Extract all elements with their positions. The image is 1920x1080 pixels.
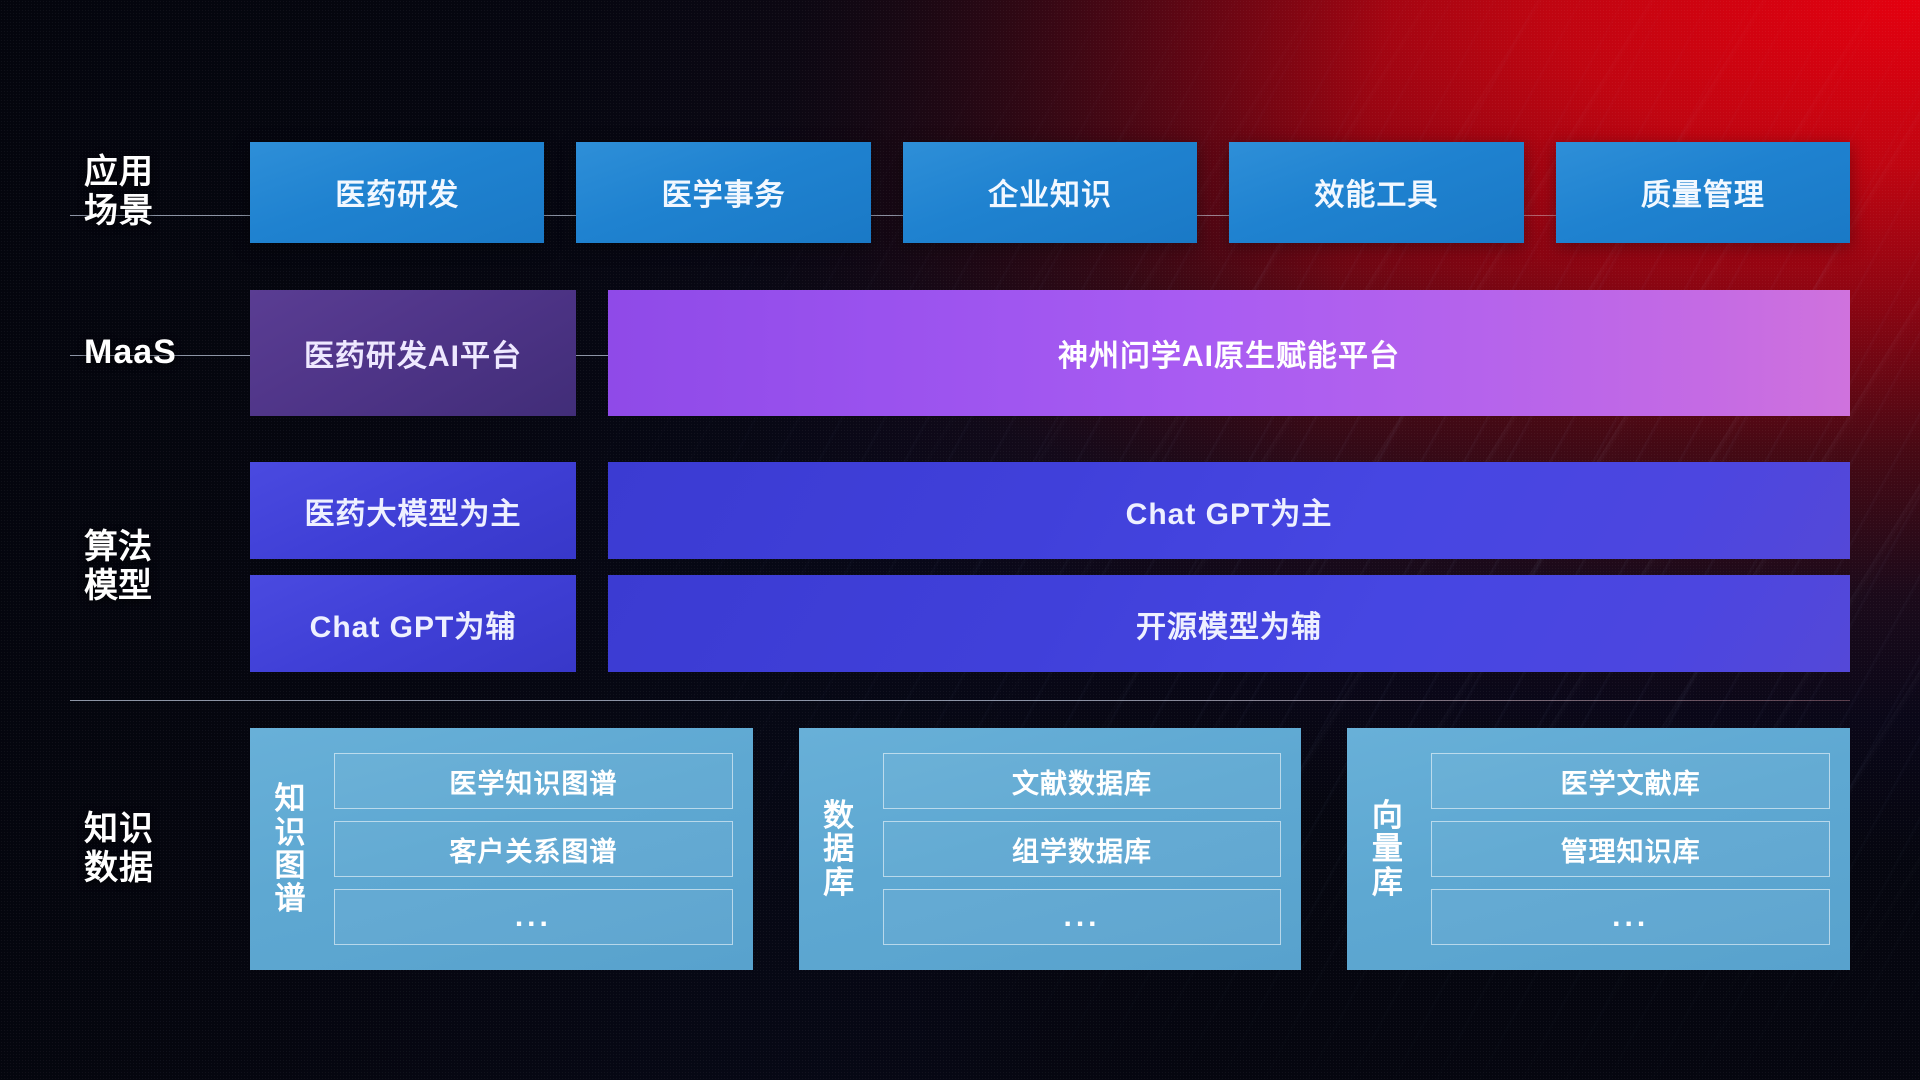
knowledge-item-more-database[interactable]: ...	[883, 889, 1282, 945]
knowledge-item-medical-literature-store[interactable]: 医学文献库	[1431, 753, 1830, 809]
app-box-medicine-rnd[interactable]: 医药研发	[250, 142, 544, 243]
knowledge-cards: 知 识 图 谱 医学知识图谱 客户关系图谱 ... 数 据 库 文献数据库 组学…	[250, 728, 1850, 970]
knowledge-card-items-knowledge-graph: 医学知识图谱 客户关系图谱 ...	[320, 742, 737, 956]
knowledge-card-vector-store[interactable]: 向 量 库 医学文献库 管理知识库 ...	[1347, 728, 1850, 970]
algo-box-chatgpt-primary[interactable]: Chat GPT为主	[608, 462, 1850, 559]
divider-line-3	[70, 700, 1850, 701]
tier-algorithm-models: 算法 模型 医药大模型为主 Chat GPT为主 Chat GPT为辅 开源模型…	[70, 462, 1850, 672]
algorithm-model-row-secondary: Chat GPT为辅 开源模型为辅	[250, 575, 1850, 672]
tier-label-algorithm-models: 算法 模型	[70, 528, 250, 607]
knowledge-card-items-vector-store: 医学文献库 管理知识库 ...	[1417, 742, 1834, 956]
architecture-diagram: 应用 场景 医药研发 医学事务 企业知识 效能工具 质量管理 MaaS 医药研发…	[0, 0, 1920, 1080]
maas-boxes: 医药研发AI平台 神州问学AI原生赋能平台	[250, 290, 1850, 416]
algo-box-pharma-large-model-primary[interactable]: 医药大模型为主	[250, 462, 576, 559]
knowledge-item-more-vector-store[interactable]: ...	[1431, 889, 1830, 945]
algorithm-model-boxes: 医药大模型为主 Chat GPT为主 Chat GPT为辅 开源模型为辅	[250, 462, 1850, 672]
knowledge-item-more-knowledge-graph[interactable]: ...	[334, 889, 733, 945]
tier-application-scenarios: 应用 场景 医药研发 医学事务 企业知识 效能工具 质量管理	[70, 132, 1850, 252]
knowledge-item-customer-relation-graph[interactable]: 客户关系图谱	[334, 821, 733, 877]
knowledge-item-literature-database[interactable]: 文献数据库	[883, 753, 1282, 809]
knowledge-card-title-knowledge-graph: 知 识 图 谱	[260, 742, 320, 956]
app-box-enterprise-knowledge[interactable]: 企业知识	[903, 142, 1197, 243]
algo-box-opensource-secondary[interactable]: 开源模型为辅	[608, 575, 1850, 672]
knowledge-card-knowledge-graph[interactable]: 知 识 图 谱 医学知识图谱 客户关系图谱 ...	[250, 728, 753, 970]
knowledge-item-management-knowledge-store[interactable]: 管理知识库	[1431, 821, 1830, 877]
tier-maas: MaaS 医药研发AI平台 神州问学AI原生赋能平台	[70, 290, 1850, 416]
tier-label-knowledge-data: 知识 数据	[70, 810, 250, 889]
algo-box-chatgpt-secondary[interactable]: Chat GPT为辅	[250, 575, 576, 672]
knowledge-item-omics-database[interactable]: 组学数据库	[883, 821, 1282, 877]
app-box-efficiency-tools[interactable]: 效能工具	[1229, 142, 1523, 243]
tier-label-application-scenarios: 应用 场景	[70, 153, 250, 232]
tier-knowledge-data: 知识 数据 知 识 图 谱 医学知识图谱 客户关系图谱 ... 数 据 库	[70, 728, 1850, 970]
maas-box-shenzhou-wenxue-platform[interactable]: 神州问学AI原生赋能平台	[608, 290, 1850, 416]
knowledge-card-title-database: 数 据 库	[809, 742, 869, 956]
app-box-quality-management[interactable]: 质量管理	[1556, 142, 1850, 243]
knowledge-card-database[interactable]: 数 据 库 文献数据库 组学数据库 ...	[799, 728, 1302, 970]
knowledge-card-items-database: 文献数据库 组学数据库 ...	[869, 742, 1286, 956]
knowledge-card-title-vector-store: 向 量 库	[1357, 742, 1417, 956]
app-box-medical-affairs[interactable]: 医学事务	[576, 142, 870, 243]
maas-box-pharma-ai-platform[interactable]: 医药研发AI平台	[250, 290, 576, 416]
knowledge-item-medical-knowledge-graph[interactable]: 医学知识图谱	[334, 753, 733, 809]
algorithm-model-row-primary: 医药大模型为主 Chat GPT为主	[250, 462, 1850, 559]
slide-canvas: 应用 场景 医药研发 医学事务 企业知识 效能工具 质量管理 MaaS 医药研发…	[0, 0, 1920, 1080]
tier-label-maas: MaaS	[70, 333, 250, 372]
application-scenario-boxes: 医药研发 医学事务 企业知识 效能工具 质量管理	[250, 142, 1850, 243]
